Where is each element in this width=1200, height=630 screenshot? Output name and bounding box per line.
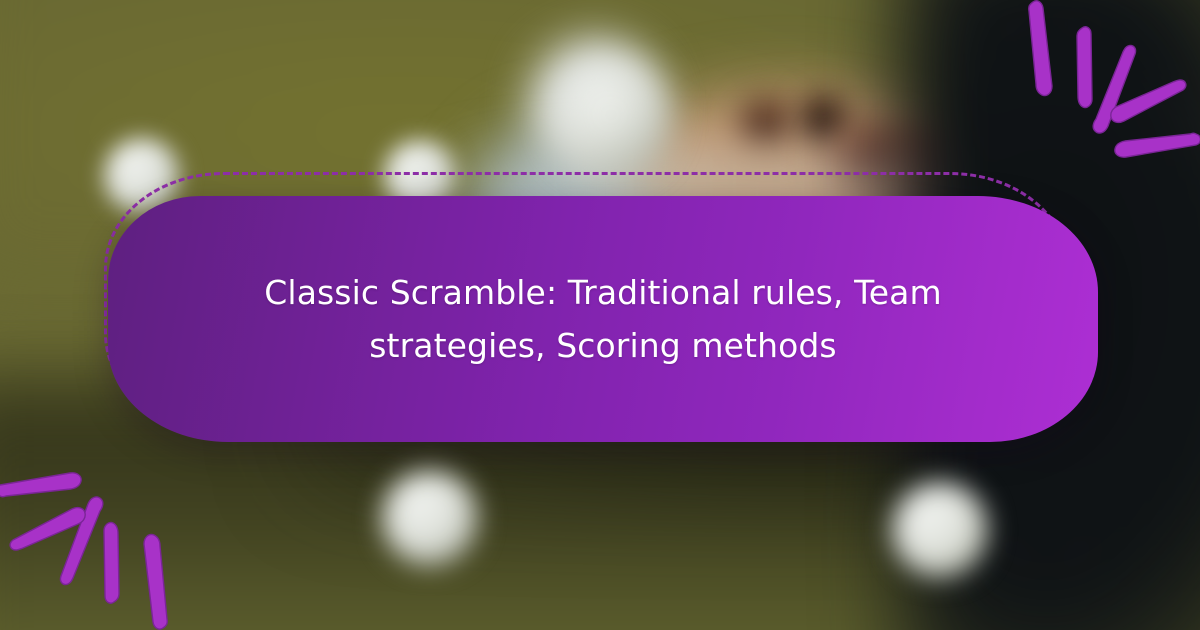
title-card: Classic Scramble: Traditional rules, Tea… <box>108 196 1098 442</box>
golf-ball <box>892 482 988 578</box>
golf-ball <box>382 470 478 566</box>
golfer-detail-1 <box>740 100 792 146</box>
banner-graphic: Classic Scramble: Traditional rules, Tea… <box>0 0 1200 630</box>
page-title: Classic Scramble: Traditional rules, Tea… <box>223 266 983 373</box>
golfer-detail-2 <box>800 95 846 145</box>
golf-ball <box>556 60 666 170</box>
